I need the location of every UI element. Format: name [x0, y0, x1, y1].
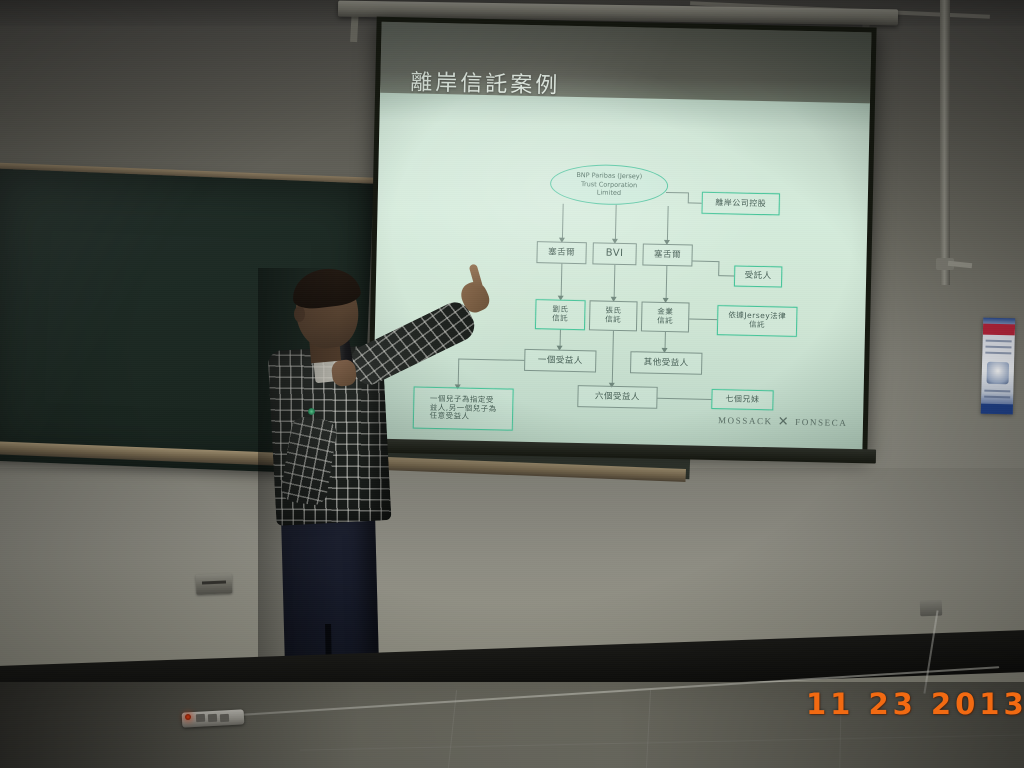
connector-root-to-sey1	[562, 204, 564, 240]
connector-gold-to-jersey	[689, 318, 717, 320]
node-bvi: BVI	[592, 242, 636, 265]
node-liu-trust: 劉氏 信託	[535, 299, 586, 330]
node-label: 六個受益人	[595, 391, 640, 402]
screen-surface: 離岸信託案例 BNP Paribas (Jersey) Trust Corpor…	[372, 22, 871, 451]
node-offshore-holding: 離岸公司控股	[702, 192, 780, 216]
connector-root-to-sey2	[667, 206, 669, 242]
poster-text-line	[985, 346, 1011, 349]
connector-one-ben-to-note-v	[458, 358, 460, 386]
node-label: 塞舌爾	[654, 250, 681, 261]
node-label: 受託人	[745, 271, 772, 282]
poster-footer-band	[981, 404, 1013, 415]
connector-bvi-to-zhang	[614, 265, 616, 299]
slide-diagram: BNP Paribas (Jersey) Trust Corporation L…	[372, 22, 871, 451]
node-other-beneficiaries: 其他受益人	[630, 351, 702, 375]
node-gold-trust: 金業 信託	[641, 301, 690, 332]
node-label: BVI	[606, 248, 624, 260]
connector-root-to-offshore-drop	[688, 192, 689, 202]
poster-text-line	[985, 352, 1011, 355]
poster-header-band	[983, 324, 1015, 336]
logo-x-mark-icon: ✕	[778, 413, 791, 429]
node-label: 依據Jersey法律 信託	[728, 311, 786, 330]
node-seven-siblings: 七個兄妹	[711, 389, 773, 410]
node-seychelles-2: 塞舌爾	[642, 243, 692, 266]
right-wall-outlet	[920, 600, 943, 617]
node-label: 塞舌爾	[548, 247, 575, 258]
connector-root-to-offshore	[666, 192, 688, 193]
logo-left-text: MOSSACK	[718, 415, 773, 426]
connector-root-to-bvi	[615, 205, 617, 241]
node-jersey-law: 依據Jersey法律 信託	[717, 305, 798, 337]
connector-zhang-to-six-ben	[612, 331, 614, 385]
power-strip-socket	[220, 714, 229, 722]
poster-text-line	[986, 340, 1012, 343]
node-trustee: 受託人	[734, 265, 782, 287]
presenter-ear	[294, 306, 305, 322]
node-bnp-paribas-jersey: BNP Paribas (Jersey) Trust Corporation L…	[550, 163, 669, 206]
wall-poster	[981, 318, 1016, 415]
connector-one-ben-to-note-h	[458, 358, 524, 360]
connector-six-to-seven	[657, 398, 711, 400]
node-seychelles-1: 塞舌爾	[536, 241, 586, 264]
node-six-beneficiaries: 六個受益人	[577, 385, 657, 409]
connector-trustee-in	[718, 275, 734, 276]
node-label: 其他受益人	[644, 357, 689, 368]
power-strip-socket	[196, 714, 205, 722]
presenter-microphone-hand	[331, 359, 358, 387]
connector-sey1-to-liu	[561, 264, 563, 298]
power-strip-socket	[208, 714, 217, 722]
connector-sey2-to-gold	[666, 266, 668, 300]
projection-screen: 離岸信託案例 BNP Paribas (Jersey) Trust Corpor…	[367, 17, 876, 456]
node-label: 離岸公司控股	[715, 198, 766, 209]
node-one-beneficiary: 一個受益人	[524, 349, 596, 373]
node-label: 劉氏 信託	[552, 306, 568, 324]
camera-date-stamp: 11 23 2013	[806, 687, 1024, 721]
photo-scene: 離岸信託案例 BNP Paribas (Jersey) Trust Corpor…	[0, 0, 1024, 768]
node-label: 七個兄妹	[725, 395, 759, 405]
wall-conduit-pipe	[940, 0, 950, 285]
node-label: 張氏 信託	[605, 307, 621, 325]
connector-trustee-riser	[718, 261, 719, 275]
node-label: 一個兒子為指定受 益人,另一個兒子為 任意受益人	[429, 395, 496, 423]
poster-illustration	[987, 362, 1010, 385]
connector-root-to-offshore-2	[688, 202, 702, 203]
connector-sey2-to-trustee	[692, 261, 718, 263]
node-zhang-trust: 張氏 信託	[589, 300, 638, 331]
node-label: 一個受益人	[538, 355, 583, 366]
node-label: 金業 信託	[657, 308, 673, 326]
mossack-fonseca-logo: MOSSACK ✕ FONSECA	[718, 412, 848, 431]
power-strip-led	[185, 714, 191, 720]
poster-text-line	[984, 390, 1010, 393]
node-label: BNP Paribas (Jersey) Trust Corporation L…	[576, 171, 642, 199]
logo-right-text: FONSECA	[795, 417, 847, 428]
microphone-led	[308, 408, 315, 415]
poster-text-line	[984, 396, 1010, 399]
